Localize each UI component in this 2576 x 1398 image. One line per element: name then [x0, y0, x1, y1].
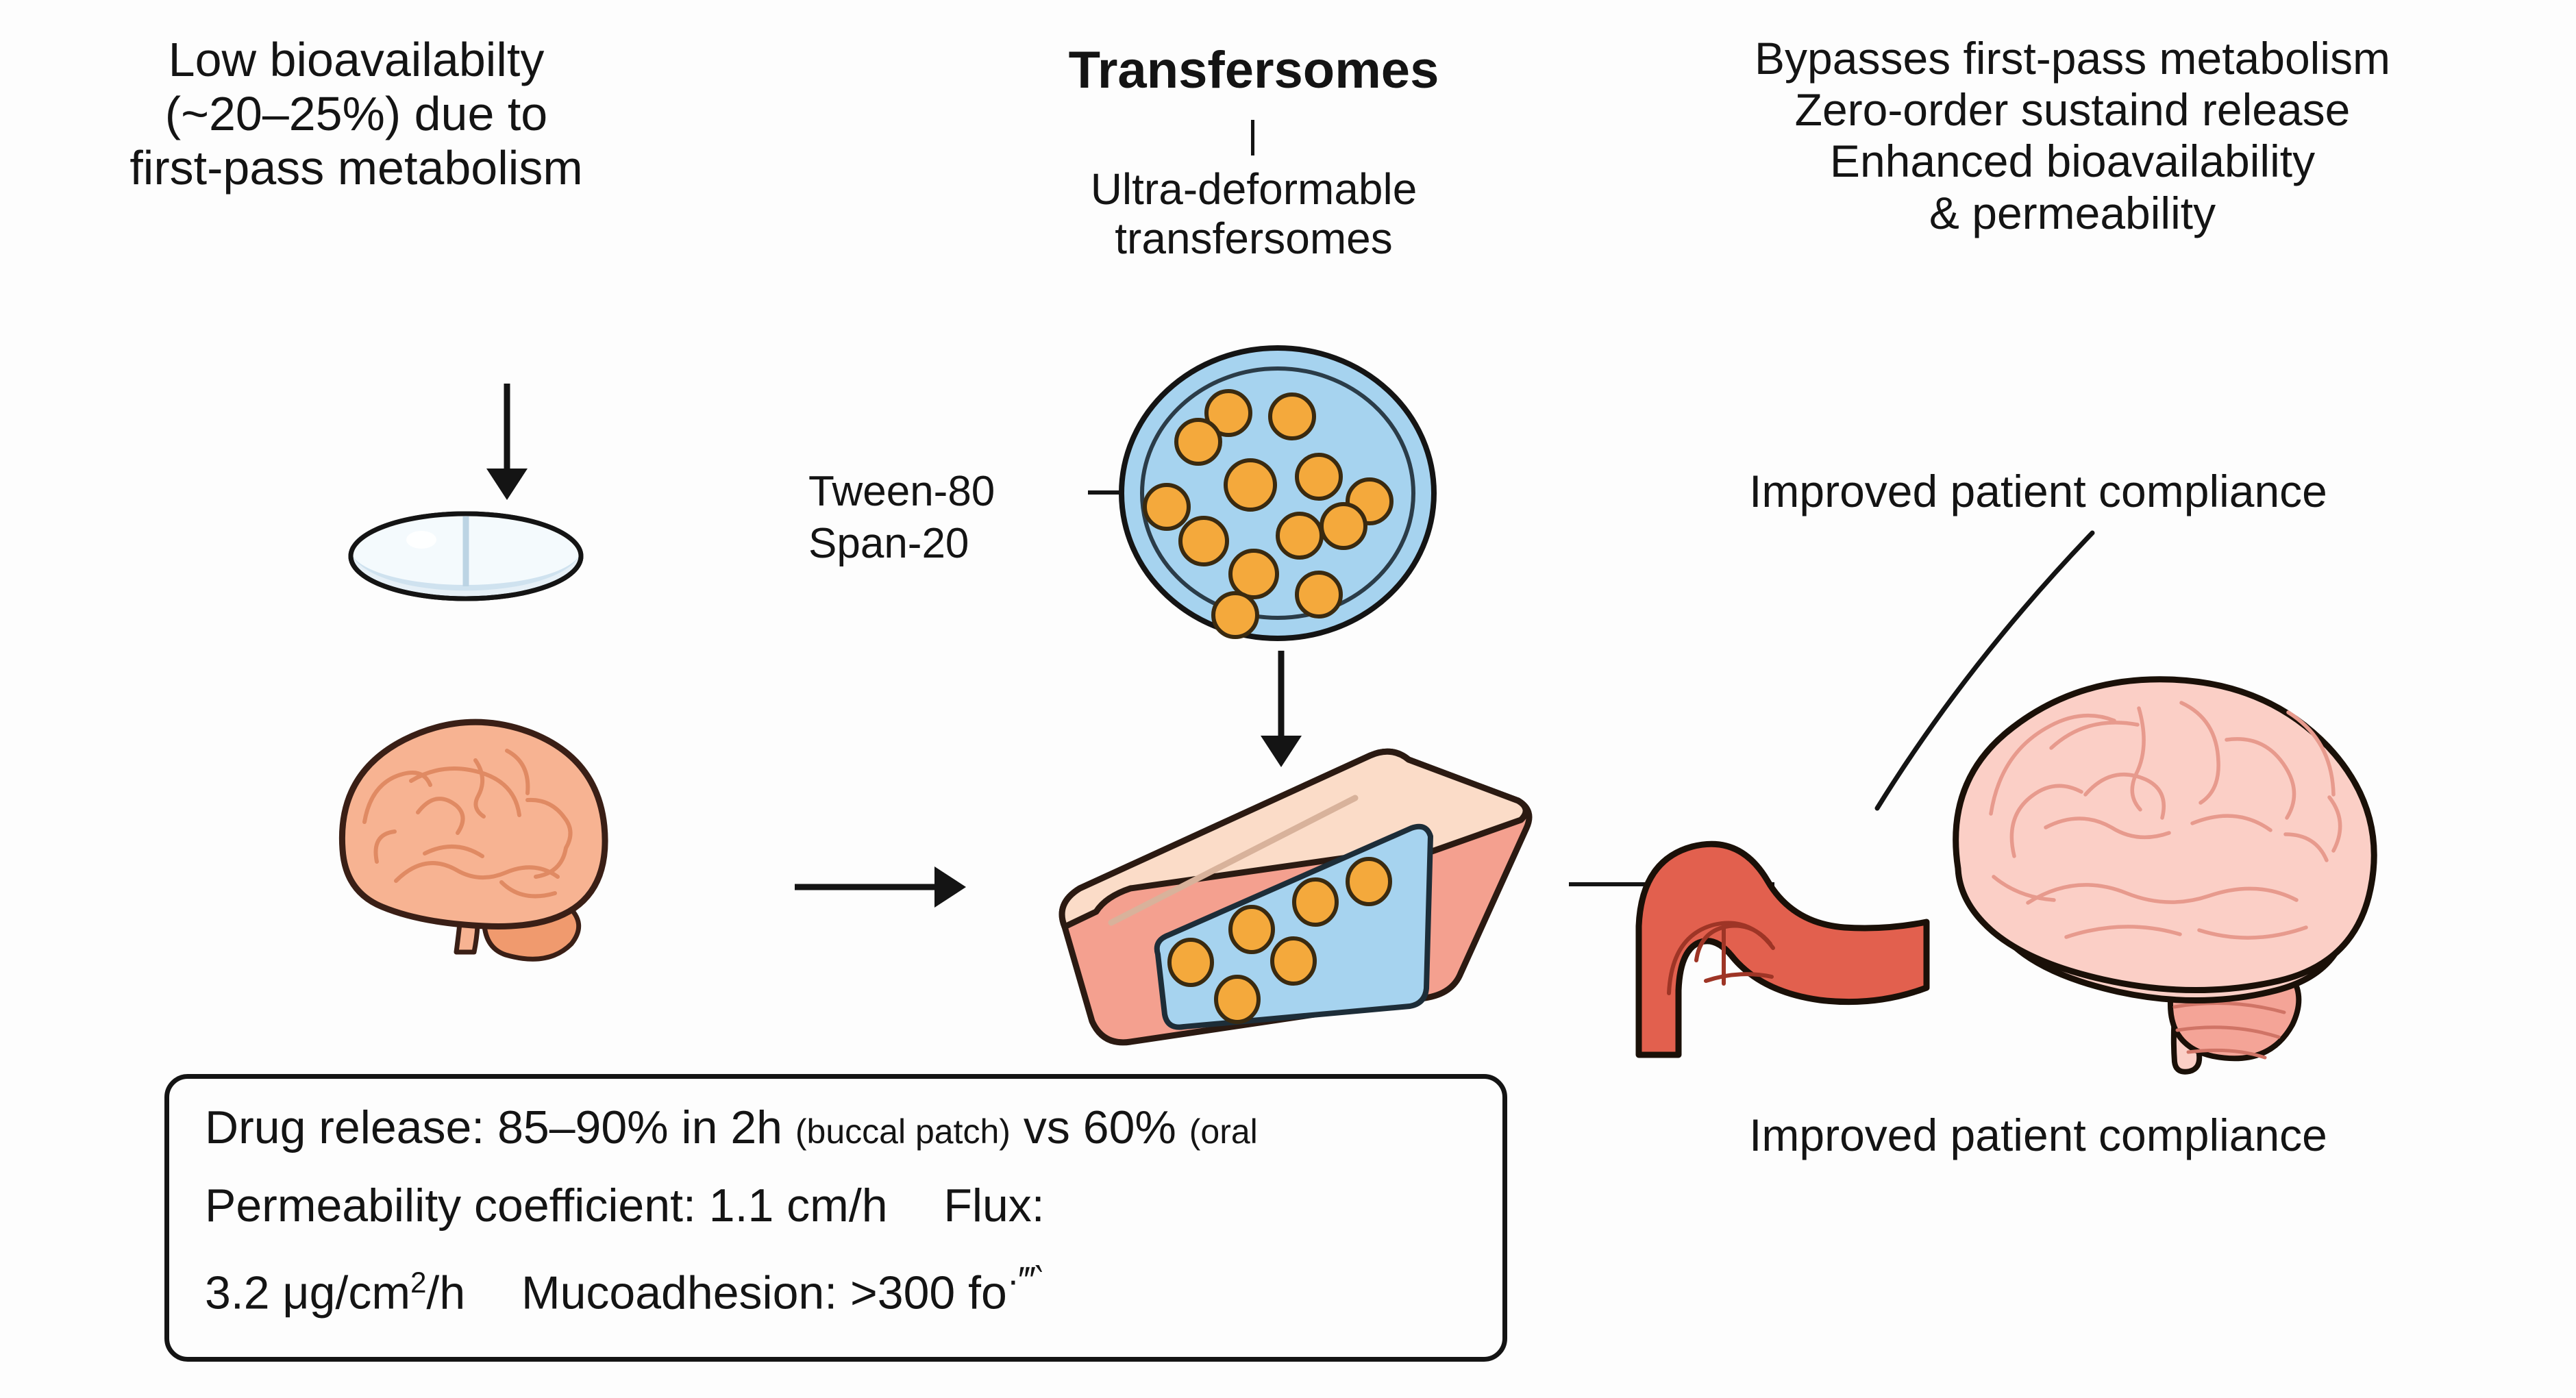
arrow-down-icon — [480, 384, 534, 500]
surfactant-labels: Tween-80Span-20 — [808, 466, 1096, 569]
figure-canvas: Low bioavailabilty (~20–25%) due to firs… — [0, 0, 2576, 1398]
metrics-box: Drug release: 85–90% in 2h (buccal patch… — [164, 1074, 1507, 1362]
brain-icon — [1905, 651, 2466, 1075]
compliance-label-bottom: Improved patient compliance — [1596, 1110, 2480, 1161]
brain-icon — [322, 678, 644, 1000]
metric-mucoadhesion: Mucoadhesion: >300 fo — [521, 1267, 1007, 1319]
metric-truncated-artifact: ·′′′‵ — [1007, 1260, 1042, 1301]
metric-drug-release-oral: (oral — [1189, 1112, 1258, 1151]
metric-drug-release-main: Drug release: 85–90% in 2h — [205, 1101, 782, 1153]
right-benefits-text: Bypasses first-pass metabolismZero-order… — [1665, 33, 2480, 239]
metric-flux-label: Flux: — [943, 1179, 1044, 1232]
metric-drug-release-buccal: (buccal patch) — [795, 1112, 1011, 1151]
metric-flux-superscript: 2 — [410, 1266, 426, 1299]
metric-line-drug-release: Drug release: 85–90% in 2h (buccal patch… — [205, 1101, 1258, 1154]
center-subtitle: Ultra-deformable transfersomes — [980, 164, 1528, 264]
metric-flux-unit: /h — [426, 1267, 465, 1319]
title-divider — [1251, 120, 1254, 155]
metric-line-permeability: Permeability coefficient: 1.1 cm/h Flux: — [205, 1179, 1045, 1232]
left-problem-text: Low bioavailabilty (~20–25%) due to firs… — [116, 33, 596, 195]
metric-flux-value: 3.2 μg/cm — [205, 1267, 410, 1319]
arrow-right-icon — [795, 860, 966, 914]
page-title: Transfersomes — [973, 41, 1535, 100]
metric-line-flux-mucoadhesion: 3.2 μg/cm2/h Mucoadhesion: >300 fo·′′′‵ — [205, 1258, 1041, 1320]
buccal-patch — [1048, 743, 1569, 1065]
transfersome-vesicle — [1113, 342, 1442, 644]
oral-tablet-icon — [346, 507, 586, 603]
metric-drug-release-vs: vs 60% — [1024, 1101, 1176, 1153]
metric-permeability-coefficient: Permeability coefficient: 1.1 cm/h — [205, 1179, 888, 1232]
compliance-label-top: Improved patient compliance — [1596, 466, 2480, 517]
